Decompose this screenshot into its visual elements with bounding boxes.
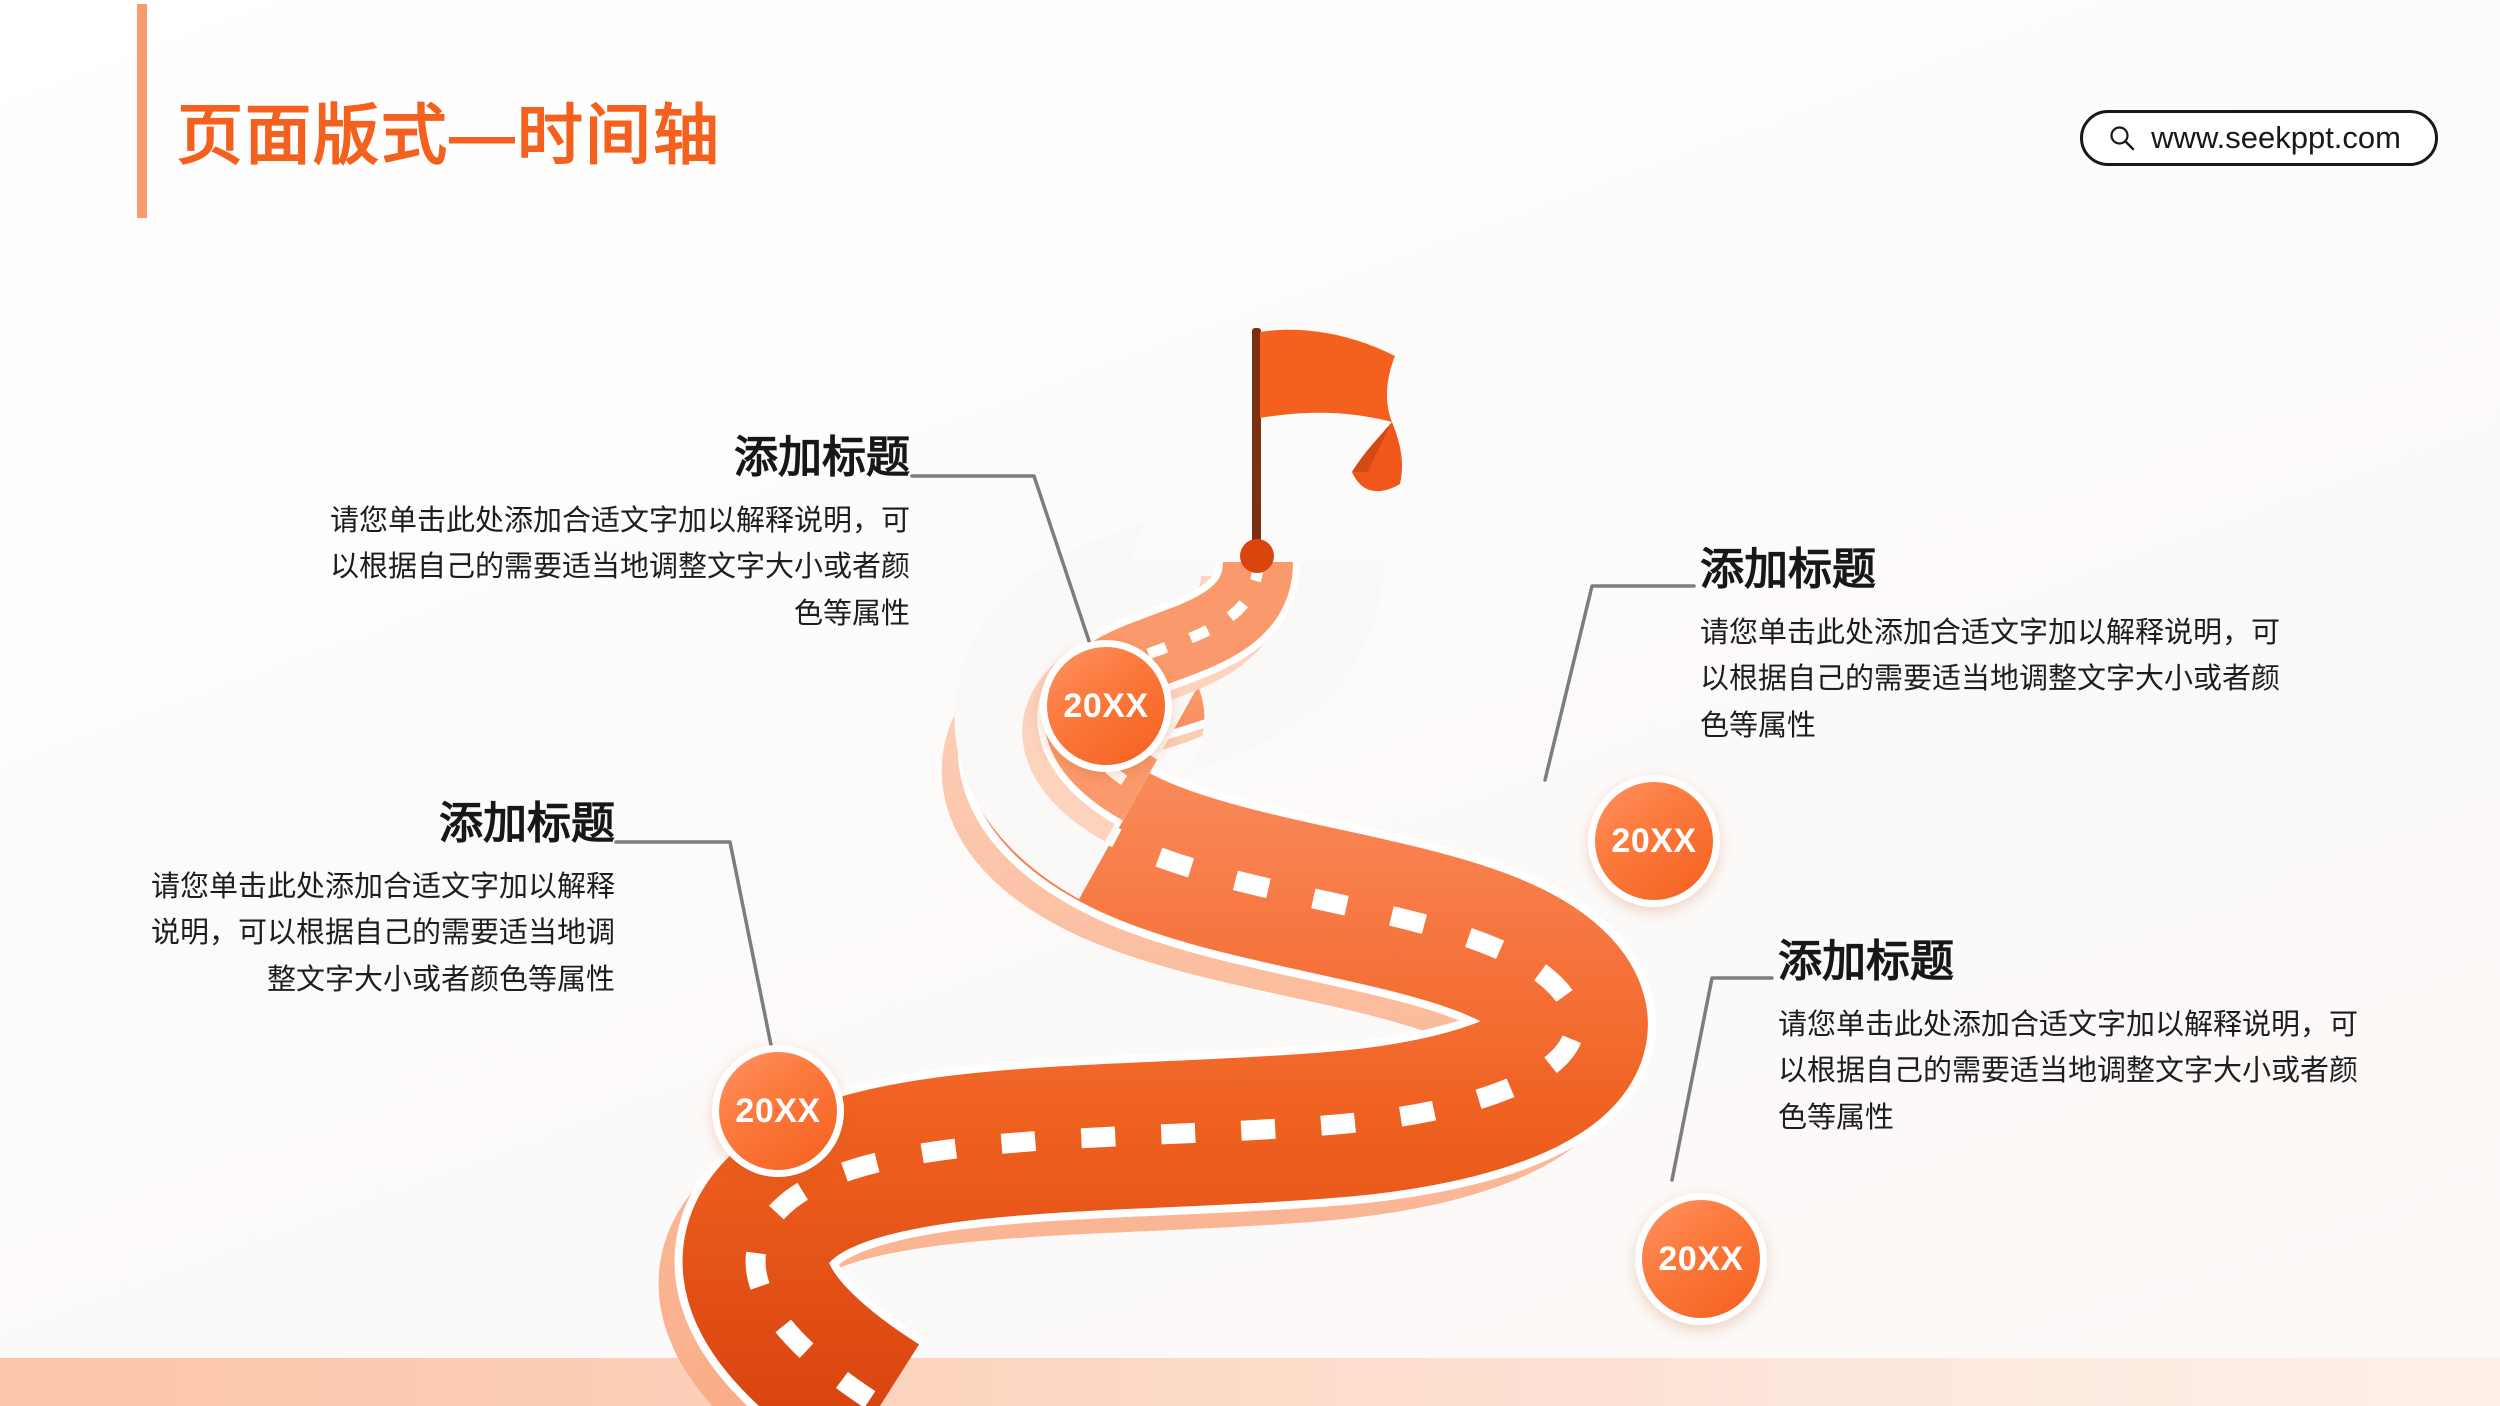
text-block-body: 请您单击此处添加合适文字加以解释说明，可以根据自己的需要适当地调整文字大小或者颜… (320, 498, 910, 639)
text-block-bottom-left: 添加标题 请您单击此处添加合适文字加以解释说明，可以根据自己的需要适当地调整文字… (140, 800, 615, 1004)
text-block-body: 请您单击此处添加合适文字加以解释说明，可以根据自己的需要适当地调整文字大小或者颜… (140, 864, 615, 1005)
slide-canvas: 20XX 20XX 20XX 20XX 添加标题 请您单击此处添加合适文字加以解… (0, 0, 2500, 1406)
title-accent-bar (137, 4, 147, 218)
milestone-year-2: 20XX (1611, 824, 1696, 858)
text-block-title: 添加标题 (1700, 546, 2292, 594)
connector-1 (912, 476, 1092, 650)
connector-3 (616, 842, 772, 1050)
text-block-title: 添加标题 (140, 800, 615, 848)
text-block-body: 请您单击此处添加合适文字加以解释说明，可以根据自己的需要适当地调整文字大小或者颜… (1700, 610, 2292, 751)
text-block-bottom-right: 添加标题 请您单击此处添加合适文字加以解释说明，可以根据自己的需要适当地调整文字… (1778, 938, 2368, 1142)
milestone-year-3: 20XX (735, 1094, 820, 1128)
milestone-node-3[interactable]: 20XX (712, 1045, 844, 1177)
milestone-node-4[interactable]: 20XX (1635, 1193, 1767, 1325)
text-block-top-left: 添加标题 请您单击此处添加合适文字加以解释说明，可以根据自己的需要适当地调整文字… (320, 434, 910, 638)
text-block-title: 添加标题 (320, 434, 910, 482)
text-block-body: 请您单击此处添加合适文字加以解释说明，可以根据自己的需要适当地调整文字大小或者颜… (1778, 1002, 2368, 1143)
search-icon (2109, 125, 2135, 151)
page-title: 页面版式—时间轴 (177, 82, 721, 178)
milestone-node-1[interactable]: 20XX (1040, 640, 1172, 772)
connector-4 (1672, 978, 1772, 1180)
url-badge[interactable]: www.seekppt.com (2080, 110, 2438, 166)
url-badge-text: www.seekppt.com (2151, 122, 2401, 155)
text-block-top-right: 添加标题 请您单击此处添加合适文字加以解释说明，可以根据自己的需要适当地调整文字… (1700, 546, 2292, 750)
milestone-year-4: 20XX (1658, 1242, 1743, 1276)
text-block-title: 添加标题 (1778, 938, 2368, 986)
connector-2 (1545, 586, 1694, 780)
milestone-year-1: 20XX (1063, 689, 1148, 723)
milestone-node-2[interactable]: 20XX (1588, 775, 1720, 907)
